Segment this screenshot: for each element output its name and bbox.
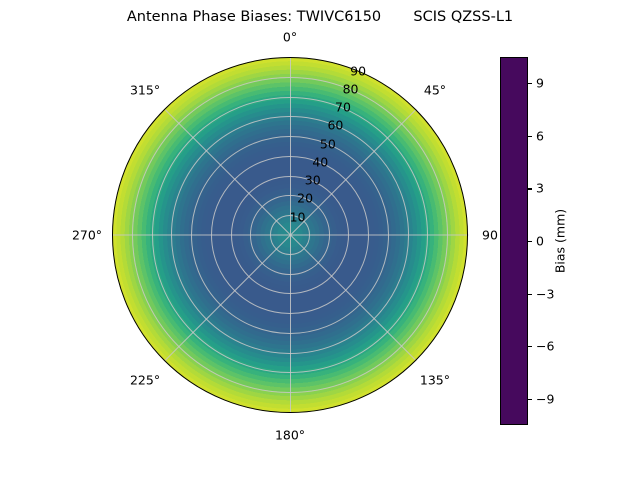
angular-tick-label-270[interactable]: 270° bbox=[72, 228, 102, 243]
angular-tick-label-225[interactable]: 225° bbox=[130, 372, 160, 387]
colorbar-tick-label--9: −9 bbox=[536, 391, 554, 406]
angular-tick-label-90[interactable]: 90 bbox=[482, 228, 498, 243]
chart-title: Antenna Phase Biases: TWIVC6150 SCIS QZS… bbox=[0, 9, 640, 25]
colorbar-tick-3 bbox=[528, 188, 532, 189]
colorbar[interactable]: 9630−3−6−9 bbox=[500, 57, 528, 425]
colorbar-tick-0 bbox=[528, 241, 532, 242]
colorbar-tick--9 bbox=[528, 399, 532, 400]
colorbar-tick-9 bbox=[528, 83, 532, 84]
colorbar-tick-6 bbox=[528, 136, 532, 137]
figure-canvas: Antenna Phase Biases: TWIVC6150 SCIS QZS… bbox=[0, 0, 640, 480]
angular-tick-label-0[interactable]: 0° bbox=[283, 30, 297, 45]
colorbar-tick-label-0: 0 bbox=[536, 234, 544, 249]
polar-data-disc bbox=[112, 57, 468, 413]
polar-plot-axes[interactable]: 102030405060708090 bbox=[112, 57, 468, 413]
colorbar-axis-label: Bias (mm) bbox=[553, 209, 568, 273]
angular-tick-label-135[interactable]: 135° bbox=[420, 372, 450, 387]
polar-heatmap-fill bbox=[112, 57, 468, 413]
colorbar-gradient bbox=[500, 57, 528, 425]
colorbar-tick-label-3: 3 bbox=[536, 181, 544, 196]
angular-tick-label-45[interactable]: 45° bbox=[424, 83, 446, 98]
colorbar-tick-label-9: 9 bbox=[536, 76, 544, 91]
angular-tick-label-180[interactable]: 180° bbox=[275, 428, 305, 443]
colorbar-tick-label--3: −3 bbox=[536, 286, 554, 301]
colorbar-tick-label--6: −6 bbox=[536, 339, 554, 354]
colorbar-tick--6 bbox=[528, 346, 532, 347]
angular-tick-label-315[interactable]: 315° bbox=[130, 83, 160, 98]
colorbar-tick-label-6: 6 bbox=[536, 128, 544, 143]
colorbar-tick--3 bbox=[528, 294, 532, 295]
